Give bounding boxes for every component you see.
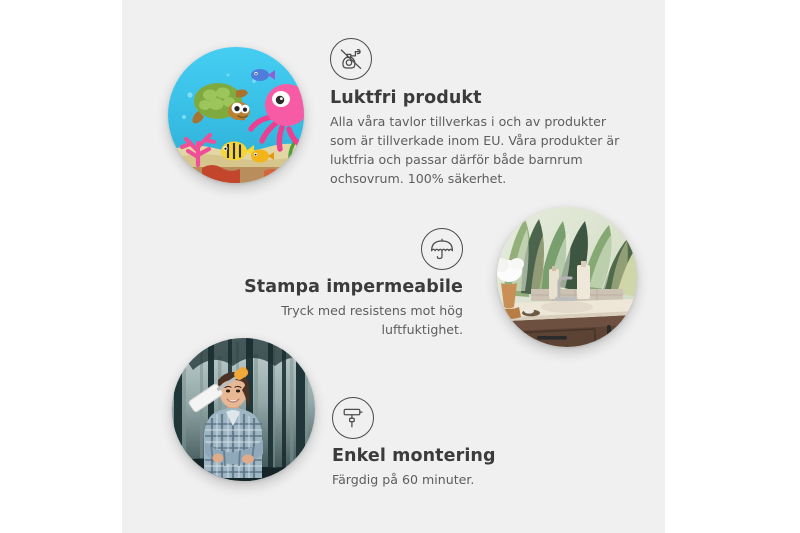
feature-title: Stampa impermeabile [210, 277, 463, 298]
paint-roller-icon [332, 397, 374, 439]
promo-graphic: Luktfri produkt Alla våra tavlor tillver… [0, 0, 800, 533]
feature-body: Tryck med resistens mot hög luftfuktighe… [210, 301, 463, 339]
photo-bathroom [497, 207, 637, 347]
feature-body: Färgdig på 60 minuter. [332, 470, 592, 489]
feature-odour-free: Luktfri produkt Alla våra tavlor tillver… [330, 38, 630, 189]
feature-title: Enkel montering [332, 446, 592, 467]
photo-forest-painter [172, 338, 315, 481]
feature-waterproof: Stampa impermeabile Tryck med resistens … [210, 228, 463, 339]
photo-underwater [168, 47, 304, 183]
feature-body: Alla våra tavlor tillverkas i och av pro… [330, 112, 622, 189]
no-fragrance-spray-bottle-icon [330, 38, 372, 80]
umbrella-icon [421, 228, 463, 270]
feature-easy-mounting: Enkel montering Färgdig på 60 minuter. [332, 397, 592, 489]
feature-title: Luktfri produkt [330, 88, 630, 109]
